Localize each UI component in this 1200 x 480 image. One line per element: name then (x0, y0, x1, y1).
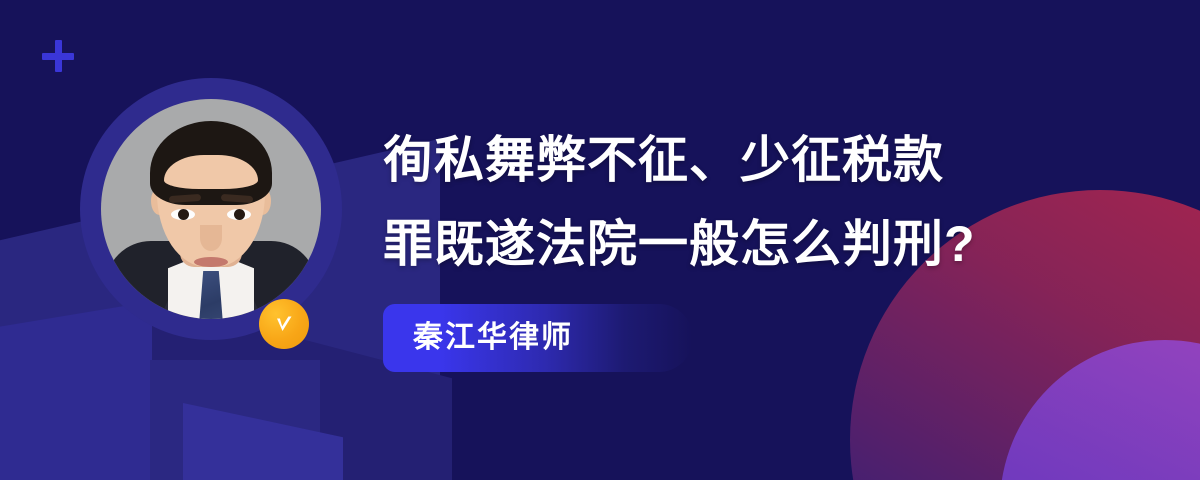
portrait-illustration (101, 99, 321, 319)
headline-line-1: 徇私舞弊不征、少征税款 (383, 118, 1123, 202)
headline-block: 徇私舞弊不征、少征税款 罪既遂法院一般怎么判刑? 秦江华律师 (383, 118, 1123, 372)
decorative-wedge-c (150, 360, 320, 480)
decorative-wedge-d (183, 403, 343, 480)
headline-line-2: 罪既遂法院一般怎么判刑? (383, 202, 1123, 286)
lawyer-qa-banner: 徇私舞弊不征、少征税款 罪既遂法院一般怎么判刑? 秦江华律师 (0, 0, 1200, 480)
verified-badge-icon (259, 299, 309, 349)
avatar-photo (101, 99, 321, 319)
lawyer-name-badge[interactable]: 秦江华律师 (383, 304, 693, 372)
plus-icon (40, 38, 76, 74)
avatar[interactable] (80, 78, 342, 340)
